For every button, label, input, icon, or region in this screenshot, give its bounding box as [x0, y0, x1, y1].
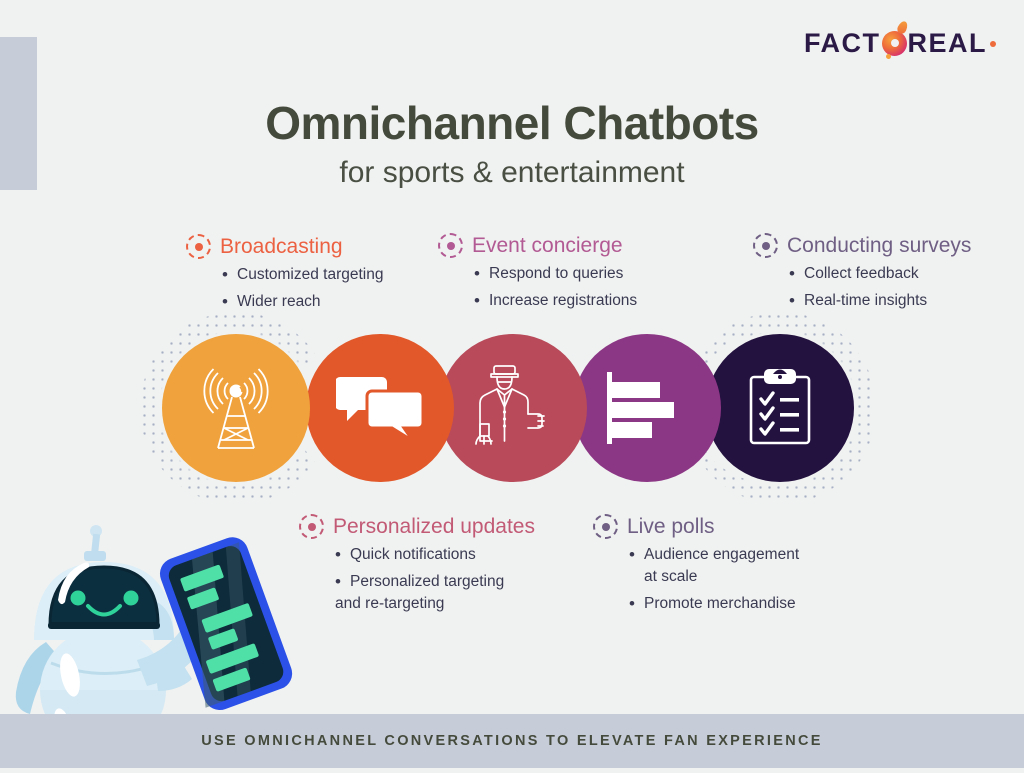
- bar-chart-icon: [604, 370, 690, 446]
- circle-broadcast-tower: [162, 334, 310, 482]
- feature-live-polls: Live polls Audience engagement at scale …: [593, 514, 799, 615]
- robot-eye-left: [71, 591, 86, 606]
- list-item: Quick notifications: [335, 544, 535, 566]
- feature-bullet-list: Audience engagement at scale Promote mer…: [629, 544, 799, 615]
- list-item-continuation: and re-targeting: [335, 593, 535, 615]
- logo-text-fact: FACT: [804, 28, 881, 59]
- feature-personalized-updates: Personalized updates Quick notifications…: [299, 514, 535, 615]
- concierge-person-icon: [467, 362, 559, 454]
- clipboard-checklist-icon: [743, 368, 817, 448]
- circle-chat-bubbles: [306, 334, 454, 482]
- list-item-text: Audience engagement: [644, 546, 799, 563]
- feature-header: Broadcasting: [186, 234, 383, 259]
- feature-header: Live polls: [593, 514, 799, 539]
- list-item: Wider reach: [222, 291, 383, 313]
- feature-title: Live polls: [627, 516, 715, 537]
- feature-bullet-list: Quick notifications Personalized targeti…: [335, 544, 535, 615]
- feature-header: Event concierge: [438, 233, 637, 258]
- logo-period-icon: [990, 41, 996, 47]
- target-dot-icon: [753, 233, 778, 258]
- feature-title: Conducting surveys: [787, 235, 971, 256]
- feature-header: Conducting surveys: [753, 233, 971, 258]
- feature-broadcasting: Broadcasting Customized targeting Wider …: [186, 234, 383, 313]
- feature-event-concierge: Event concierge Respond to queries Incre…: [438, 233, 637, 312]
- feature-title: Personalized updates: [333, 516, 535, 537]
- robot-eye-right: [124, 591, 139, 606]
- feature-bullet-list: Collect feedback Real-time insights: [789, 263, 971, 312]
- target-dot-icon: [438, 233, 463, 258]
- logo-accent-dot-icon: [886, 54, 891, 59]
- banner-text: USE OMNICHANNEL CONVERSATIONS TO ELEVATE…: [201, 733, 822, 749]
- feature-conducting-surveys: Conducting surveys Collect feedback Real…: [753, 233, 971, 312]
- list-item: Audience engagement at scale: [629, 544, 799, 588]
- broadcast-tower-icon: [188, 360, 284, 456]
- logo-text-real: REAL: [908, 28, 988, 59]
- circle-poll-bars: [573, 334, 721, 482]
- chat-bubbles-icon: [336, 371, 424, 445]
- feature-bullet-list: Customized targeting Wider reach: [222, 264, 383, 313]
- logo-o-icon: [882, 31, 907, 56]
- list-item: Real-time insights: [789, 290, 971, 312]
- list-item: Increase registrations: [474, 290, 637, 312]
- list-item: Respond to queries: [474, 263, 637, 285]
- list-item: Personalized targeting: [335, 571, 535, 593]
- circle-clipboard-checks: [706, 334, 854, 482]
- feature-bullet-list: Respond to queries Increase registration…: [474, 263, 637, 312]
- target-dot-icon: [593, 514, 618, 539]
- feature-header: Personalized updates: [299, 514, 535, 539]
- icon-circle-row: [0, 318, 1024, 498]
- bottom-banner: USE OMNICHANNEL CONVERSATIONS TO ELEVATE…: [0, 714, 1024, 768]
- list-item: Collect feedback: [789, 263, 971, 285]
- list-item: Promote merchandise: [629, 593, 799, 615]
- brand-logo: FACT REAL: [804, 28, 996, 59]
- list-item: Customized targeting: [222, 264, 383, 286]
- feature-title: Broadcasting: [220, 236, 343, 257]
- list-item-wrap: at scale: [644, 568, 697, 585]
- feature-title: Event concierge: [472, 235, 623, 256]
- page-title: Omnichannel Chatbots: [0, 96, 1024, 150]
- target-dot-icon: [186, 234, 211, 259]
- circle-concierge-person: [439, 334, 587, 482]
- page-subtitle: for sports & entertainment: [0, 156, 1024, 190]
